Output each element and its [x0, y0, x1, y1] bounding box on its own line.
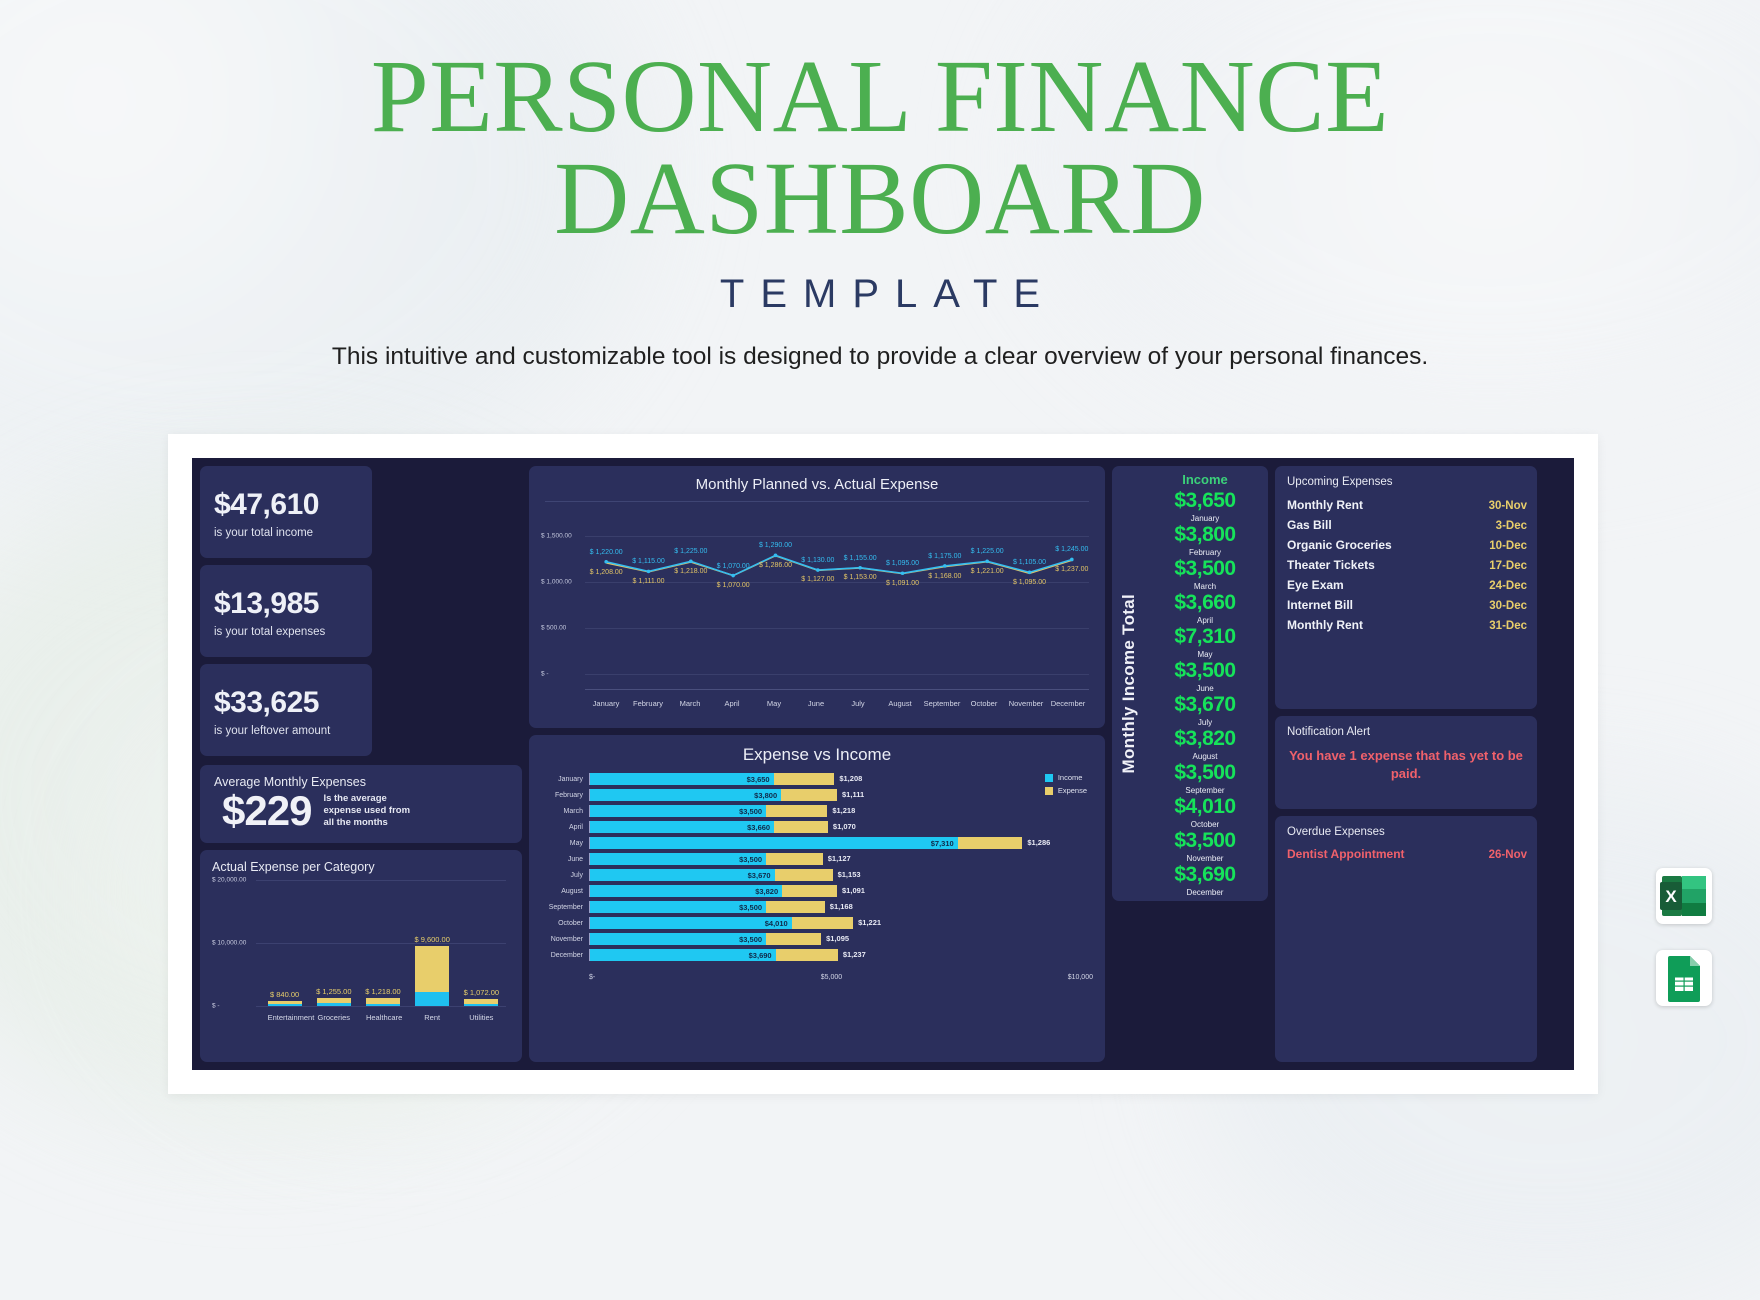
category-y-tick-label: $ -	[212, 1003, 220, 1010]
income-item-month: August	[1146, 752, 1264, 761]
line-data-label: $ 1,237.00	[1055, 566, 1088, 573]
upcoming-expense-date: 10-Dec	[1489, 540, 1527, 552]
evi-x-tick-label: $5,000	[821, 974, 842, 981]
line-data-label: $ 1,225.00	[674, 548, 707, 555]
line-chart-plot: $ 1,500.00$ 1,000.00$ 500.00$ -$ 1,220.0…	[539, 508, 1095, 708]
upcoming-expense-row: Monthly Rent31-Dec	[1287, 615, 1527, 635]
income-item-amount: $3,500	[1146, 829, 1264, 853]
income-item-month: February	[1146, 548, 1264, 557]
evi-expense-value: $1,111	[842, 790, 864, 799]
overdue-expenses-title: Overdue Expenses	[1287, 826, 1527, 838]
line-data-label: $ 1,070.00	[717, 582, 750, 589]
income-item: $3,500March	[1146, 557, 1264, 591]
income-item: $3,500November	[1146, 829, 1264, 863]
income-item-month: December	[1146, 888, 1264, 897]
overdue-expense-row: Dentist Appointment26-Nov	[1287, 847, 1527, 861]
upcoming-expenses-panel: Upcoming Expenses Monthly Rent30-NovGas …	[1275, 466, 1537, 709]
overdue-expenses-panel: Overdue Expenses Dentist Appointment26-N…	[1275, 816, 1537, 1062]
income-item-amount: $4,010	[1146, 795, 1264, 819]
category-bar-segment-expense	[415, 946, 449, 992]
evi-income-value: $3,650	[747, 775, 770, 784]
evi-expense-bar	[775, 869, 833, 881]
notification-alert-panel: Notification Alert You have 1 expense th…	[1275, 716, 1537, 809]
evi-row: February$3,800$1,111	[541, 787, 1093, 803]
line-data-label: $ 1,208.00	[590, 569, 623, 576]
income-vertical-text: Monthly Income Total	[1119, 594, 1139, 773]
app-icons: X	[1656, 868, 1712, 1032]
title-block: PERSONAL FINANCE DASHBOARD TEMPLATE This…	[0, 0, 1760, 371]
upcoming-expenses-title: Upcoming Expenses	[1287, 476, 1527, 488]
evi-income-value: $3,500	[739, 807, 762, 816]
income-item-amount: $3,500	[1146, 557, 1264, 581]
overdue-expense-date: 26-Nov	[1489, 849, 1527, 861]
total-income-caption: is your total income	[214, 527, 358, 539]
upcoming-expense-date: 30-Dec	[1489, 600, 1527, 612]
upcoming-expense-row: Organic Groceries10-Dec	[1287, 535, 1527, 555]
page-subtitle: TEMPLATE	[0, 272, 1760, 317]
line-data-label: $ 1,290.00	[759, 542, 792, 549]
upcoming-expense-name: Organic Groceries	[1287, 538, 1392, 552]
evi-row: September$3,500$1,168	[541, 899, 1093, 915]
right-column: Upcoming Expenses Monthly Rent30-NovGas …	[1275, 466, 1537, 1062]
evi-expense-value: $1,127	[828, 854, 851, 863]
total-expenses-caption: is your total expenses	[214, 626, 358, 638]
category-bar-value: $ 1,255.00	[316, 987, 351, 996]
evi-row: May$7,310$1,286	[541, 835, 1093, 851]
evi-row-track: $3,500$1,095	[589, 933, 1093, 945]
evi-x-tick-label: $10,000	[1068, 974, 1093, 981]
upcoming-expense-row: Theater Tickets17-Dec	[1287, 555, 1527, 575]
evi-income-bar: $3,820	[590, 885, 782, 897]
evi-row-track: $3,660$1,070	[589, 821, 1093, 833]
income-item-amount: $3,690	[1146, 863, 1264, 887]
evi-expense-bar	[766, 901, 825, 913]
line-series-group	[539, 508, 1099, 708]
leftover-value: $33,625	[214, 686, 358, 720]
category-bar-value: $ 1,072.00	[464, 988, 499, 997]
income-item: $3,500June	[1146, 659, 1264, 693]
line-data-label: $ 1,115.00	[632, 558, 665, 565]
income-item-amount: $3,820	[1146, 727, 1264, 751]
overdue-expense-name: Dentist Appointment	[1287, 847, 1405, 861]
page-description: This intuitive and customizable tool is …	[0, 343, 1760, 371]
line-data-label: $ 1,153.00	[844, 574, 877, 581]
upcoming-expense-row: Internet Bill30-Dec	[1287, 595, 1527, 615]
evi-row-track: $3,800$1,111	[589, 789, 1093, 801]
evi-row-month: September	[541, 904, 589, 911]
income-item-month: June	[1146, 684, 1264, 693]
line-data-label: $ 1,095.00	[1013, 579, 1046, 586]
divider	[545, 501, 1089, 502]
evi-row-month: August	[541, 888, 589, 895]
evi-row-track: $3,500$1,168	[589, 901, 1093, 913]
income-item: $3,800February	[1146, 523, 1264, 557]
evi-row-month: June	[541, 856, 589, 863]
svg-text:X: X	[1665, 887, 1677, 906]
income-item-month: May	[1146, 650, 1264, 659]
income-item: $3,650January	[1146, 489, 1264, 523]
stat-card-leftover: $33,625 is your leftover amount	[200, 664, 372, 756]
evi-row-track: $3,500$1,127	[589, 853, 1093, 865]
category-x-tick-label: Rent	[415, 1013, 449, 1022]
income-item-amount: $3,650	[1146, 489, 1264, 513]
category-bar: $ 1,255.00	[317, 880, 351, 1006]
category-y-tick-label: $ 10,000.00	[212, 940, 246, 947]
category-x-tick-label: Utilities	[464, 1013, 498, 1022]
upcoming-expense-name: Gas Bill	[1287, 518, 1332, 532]
evi-expense-value: $1,218	[832, 806, 855, 815]
monthly-income-total-panel: Monthly Income Total Income $3,650Januar…	[1112, 466, 1268, 901]
income-item: $3,690December	[1146, 863, 1264, 897]
evi-expense-value: $1,208	[839, 774, 862, 783]
evi-income-value: $3,670	[748, 871, 771, 880]
category-chart-plot: $ 20,000.00$ 10,000.00$ -$ 840.00$ 1,255…	[212, 880, 510, 1006]
income-item: $4,010October	[1146, 795, 1264, 829]
line-x-tick-label: May	[753, 699, 795, 708]
page-title: PERSONAL FINANCE DASHBOARD	[0, 46, 1760, 250]
upcoming-expense-date: 17-Dec	[1489, 560, 1527, 572]
line-data-label: $ 1,218.00	[674, 568, 707, 575]
evi-row-month: July	[541, 872, 589, 879]
line-data-label: $ 1,155.00	[844, 555, 877, 562]
evi-income-bar: $4,010	[590, 917, 792, 929]
evi-row: October$4,010$1,221	[541, 915, 1093, 931]
income-item-month: January	[1146, 514, 1264, 523]
line-data-label: $ 1,095.00	[886, 560, 919, 567]
evi-x-tick-label: $-	[589, 974, 595, 981]
line-x-tick-label: July	[837, 699, 879, 708]
upcoming-expenses-list: Monthly Rent30-NovGas Bill3-DecOrganic G…	[1287, 495, 1527, 635]
upcoming-expense-date: 3-Dec	[1496, 520, 1527, 532]
category-bar-segment-budget	[317, 1003, 351, 1006]
income-item-amount: $3,800	[1146, 523, 1264, 547]
evi-expense-value: $1,237	[843, 950, 866, 959]
category-bar: $ 1,072.00	[464, 880, 498, 1006]
evi-chart-plot: IncomeExpenseJanuary$3,650$1,208February…	[541, 769, 1093, 983]
line-x-axis	[585, 689, 1089, 690]
line-data-label: $ 1,111.00	[632, 578, 664, 585]
monthly-planned-vs-actual-chart: Monthly Planned vs. Actual Expense $ 1,5…	[529, 466, 1105, 728]
stat-card-total-expenses: $13,985 is your total expenses	[200, 565, 372, 657]
line-data-label: $ 1,221.00	[971, 568, 1004, 575]
average-monthly-expenses-card: Average Monthly Expenses $229 Is the ave…	[200, 765, 522, 843]
category-bar: $ 840.00	[268, 880, 302, 1006]
evi-income-value: $7,310	[931, 839, 954, 848]
income-item-amount: $3,500	[1146, 761, 1264, 785]
evi-expense-bar	[774, 821, 828, 833]
category-bar-value: $ 1,218.00	[365, 987, 400, 996]
evi-expense-bar	[766, 853, 823, 865]
evi-income-bar: $3,670	[590, 869, 775, 881]
income-item: $7,310May	[1146, 625, 1264, 659]
income-list: Income $3,650January$3,800February$3,500…	[1146, 466, 1268, 901]
category-y-tick-label: $ 20,000.00	[212, 877, 246, 884]
income-item-month: April	[1146, 616, 1264, 625]
upcoming-expense-row: Monthly Rent30-Nov	[1287, 495, 1527, 515]
evi-income-value: $3,820	[755, 887, 778, 896]
income-item: $3,820August	[1146, 727, 1264, 761]
upcoming-expense-name: Internet Bill	[1287, 598, 1353, 612]
evi-expense-value: $1,070	[833, 822, 856, 831]
evi-income-bar: $3,660	[590, 821, 774, 833]
evi-row-track: $3,820$1,091	[589, 885, 1093, 897]
evi-row-track: $3,650$1,208	[589, 773, 1093, 785]
line-x-tick-label: March	[669, 699, 711, 708]
line-data-label: $ 1,105.00	[1013, 559, 1046, 566]
upcoming-expense-date: 31-Dec	[1489, 620, 1527, 632]
income-item-amount: $3,670	[1146, 693, 1264, 717]
page-title-line2: DASHBOARD	[0, 148, 1760, 250]
evi-rows: January$3,650$1,208February$3,800$1,111M…	[541, 771, 1093, 963]
evi-row: December$3,690$1,237	[541, 947, 1093, 963]
category-x-tick-label: Healthcare	[366, 1013, 400, 1022]
income-item-amount: $3,660	[1146, 591, 1264, 615]
category-bar: $ 9,600.00	[415, 880, 449, 1006]
line-data-label: $ 1,245.00	[1055, 546, 1088, 553]
line-x-tick-label: October	[963, 699, 1005, 708]
evi-expense-value: $1,221	[858, 918, 881, 927]
line-x-tick-label: August	[879, 699, 921, 708]
evi-expense-bar	[782, 885, 837, 897]
line-x-tick-label: November	[1005, 699, 1047, 708]
evi-income-bar: $3,500	[590, 901, 766, 913]
line-x-tick-label: December	[1047, 699, 1089, 708]
total-income-value: $47,610	[214, 488, 358, 522]
evi-income-bar: $3,500	[590, 853, 766, 865]
line-chart-title: Monthly Planned vs. Actual Expense	[539, 476, 1095, 493]
category-bars: $ 840.00$ 1,255.00$ 1,218.00$ 9,600.00$ …	[260, 880, 506, 1006]
notification-alert-title: Notification Alert	[1287, 726, 1525, 738]
income-heading: Income	[1146, 472, 1264, 487]
line-data-label: $ 1,070.00	[717, 563, 750, 570]
income-item-amount: $7,310	[1146, 625, 1264, 649]
evi-expense-value: $1,091	[842, 886, 865, 895]
upcoming-expense-row: Gas Bill3-Dec	[1287, 515, 1527, 535]
category-x-tick-labels: EntertainmentGroceriesHealthcareRentUtil…	[260, 1013, 506, 1022]
line-data-label: $ 1,168.00	[928, 573, 961, 580]
upcoming-expense-name: Eye Exam	[1287, 578, 1344, 592]
middle-column: Monthly Planned vs. Actual Expense $ 1,5…	[529, 466, 1105, 1062]
evi-income-value: $3,500	[739, 935, 762, 944]
line-data-label: $ 1,127.00	[801, 576, 834, 583]
evi-income-bar: $3,650	[590, 773, 774, 785]
line-x-tick-label: June	[795, 699, 837, 708]
line-x-tick-labels: JanuaryFebruaryMarchAprilMayJuneJulyAugu…	[585, 699, 1089, 708]
evi-expense-bar	[776, 949, 838, 961]
evi-income-value: $4,010	[765, 919, 788, 928]
evi-expense-bar	[774, 773, 835, 785]
line-x-tick-label: January	[585, 699, 627, 708]
evi-x-axis-labels: $-$5,000$10,000	[589, 974, 1093, 981]
evi-expense-value: $1,153	[838, 870, 861, 879]
line-x-tick-label: February	[627, 699, 669, 708]
upcoming-expense-name: Monthly Rent	[1287, 618, 1363, 632]
evi-row-month: May	[541, 840, 589, 847]
evi-income-bar: $3,500	[590, 805, 766, 817]
category-bar-segment-budget	[464, 1004, 498, 1006]
income-item: $3,660April	[1146, 591, 1264, 625]
category-bar-value: $ 840.00	[270, 990, 299, 999]
evi-income-bar: $3,690	[590, 949, 776, 961]
stat-cards: $47,610 is your total income $13,985 is …	[200, 466, 372, 758]
line-data-label: $ 1,175.00	[928, 553, 961, 560]
evi-row-month: December	[541, 952, 589, 959]
evi-expense-bar	[958, 837, 1023, 849]
income-item-amount: $3,500	[1146, 659, 1264, 683]
income-item-month: March	[1146, 582, 1264, 591]
category-x-tick-label: Entertainment	[268, 1013, 302, 1022]
evi-chart-title: Expense vs Income	[541, 745, 1093, 765]
evi-row: April$3,660$1,070	[541, 819, 1093, 835]
evi-row-month: January	[541, 776, 589, 783]
left-column: $47,610 is your total income $13,985 is …	[200, 466, 522, 1062]
evi-row-track: $3,500$1,218	[589, 805, 1093, 817]
line-data-label: $ 1,130.00	[801, 557, 834, 564]
evi-row-month: November	[541, 936, 589, 943]
line-x-tick-label: April	[711, 699, 753, 708]
page-title-line1: PERSONAL FINANCE	[371, 39, 1389, 154]
income-item-month: September	[1146, 786, 1264, 795]
evi-income-value: $3,500	[739, 855, 762, 864]
excel-icon[interactable]: X	[1656, 868, 1712, 924]
income-item-month: November	[1146, 854, 1264, 863]
evi-income-value: $3,800	[754, 791, 777, 800]
evi-row-month: October	[541, 920, 589, 927]
google-sheets-icon[interactable]	[1656, 950, 1712, 1006]
evi-expense-value: $1,168	[830, 902, 853, 911]
line-data-label: $ 1,220.00	[590, 549, 623, 556]
evi-income-bar: $3,500	[590, 933, 766, 945]
upcoming-expense-name: Monthly Rent	[1287, 498, 1363, 512]
income-item-month: July	[1146, 718, 1264, 727]
evi-expense-bar	[766, 805, 827, 817]
income-item-month: October	[1146, 820, 1264, 829]
category-bar-segment-budget	[268, 1004, 302, 1006]
category-bar: $ 1,218.00	[366, 880, 400, 1006]
line-data-label: $ 1,091.00	[886, 580, 919, 587]
evi-row-track: $4,010$1,221	[589, 917, 1093, 929]
category-bar-value: $ 9,600.00	[414, 935, 449, 944]
leftover-caption: is your leftover amount	[214, 725, 358, 737]
upcoming-expense-row: Eye Exam24-Dec	[1287, 575, 1527, 595]
evi-row: January$3,650$1,208	[541, 771, 1093, 787]
evi-expense-value: $1,286	[1027, 838, 1050, 847]
evi-row-month: February	[541, 792, 589, 799]
evi-row: November$3,500$1,095	[541, 931, 1093, 947]
evi-row-track: $3,690$1,237	[589, 949, 1093, 961]
evi-expense-value: $1,095	[826, 934, 849, 943]
expense-vs-income-chart: Expense vs Income IncomeExpenseJanuary$3…	[529, 735, 1105, 1062]
total-expenses-value: $13,985	[214, 587, 358, 621]
evi-income-value: $3,500	[739, 903, 762, 912]
evi-income-value: $3,660	[747, 823, 770, 832]
line-data-label: $ 1,225.00	[971, 548, 1004, 555]
income-item: $3,670July	[1146, 693, 1264, 727]
average-value: $229	[214, 787, 311, 835]
average-note: Is the average expense used from all the…	[323, 793, 419, 829]
line-data-label: $ 1,286.00	[759, 562, 792, 569]
evi-row-track: $3,670$1,153	[589, 869, 1093, 881]
evi-row: July$3,670$1,153	[541, 867, 1093, 883]
evi-row-track: $7,310$1,286	[589, 837, 1093, 849]
upcoming-expense-date: 24-Dec	[1489, 580, 1527, 592]
evi-expense-bar	[766, 933, 821, 945]
actual-expense-per-category-chart: Actual Expense per Category $ 20,000.00$…	[200, 850, 522, 1062]
evi-expense-bar	[781, 789, 837, 801]
monthly-income-total-label: Monthly Income Total	[1112, 466, 1146, 901]
income-item: $3,500September	[1146, 761, 1264, 795]
line-x-tick-label: September	[921, 699, 963, 708]
category-bar-segment-budget	[415, 992, 449, 1006]
evi-row: June$3,500$1,127	[541, 851, 1093, 867]
evi-row-month: April	[541, 824, 589, 831]
category-gridline	[256, 1006, 506, 1007]
notification-alert-message: You have 1 expense that has yet to be pa…	[1287, 747, 1525, 782]
stat-card-total-income: $47,610 is your total income	[200, 466, 372, 558]
dashboard: $47,610 is your total income $13,985 is …	[192, 458, 1574, 1070]
evi-row-month: March	[541, 808, 589, 815]
evi-income-bar: $3,800	[590, 789, 781, 801]
evi-income-value: $3,690	[749, 951, 772, 960]
evi-row: August$3,820$1,091	[541, 883, 1093, 899]
upcoming-expense-name: Theater Tickets	[1287, 558, 1375, 572]
evi-row: March$3,500$1,218	[541, 803, 1093, 819]
evi-income-bar: $7,310	[590, 837, 958, 849]
category-x-tick-label: Groceries	[317, 1013, 351, 1022]
upcoming-expense-date: 30-Nov	[1489, 500, 1527, 512]
evi-expense-bar	[792, 917, 853, 929]
category-bar-segment-budget	[366, 1004, 400, 1006]
overdue-expenses-list: Dentist Appointment26-Nov	[1287, 847, 1527, 861]
category-chart-title: Actual Expense per Category	[212, 860, 510, 874]
summary-and-line-area: $47,610 is your total income $13,985 is …	[200, 466, 522, 758]
income-column: Monthly Income Total Income $3,650Januar…	[1112, 466, 1268, 1062]
